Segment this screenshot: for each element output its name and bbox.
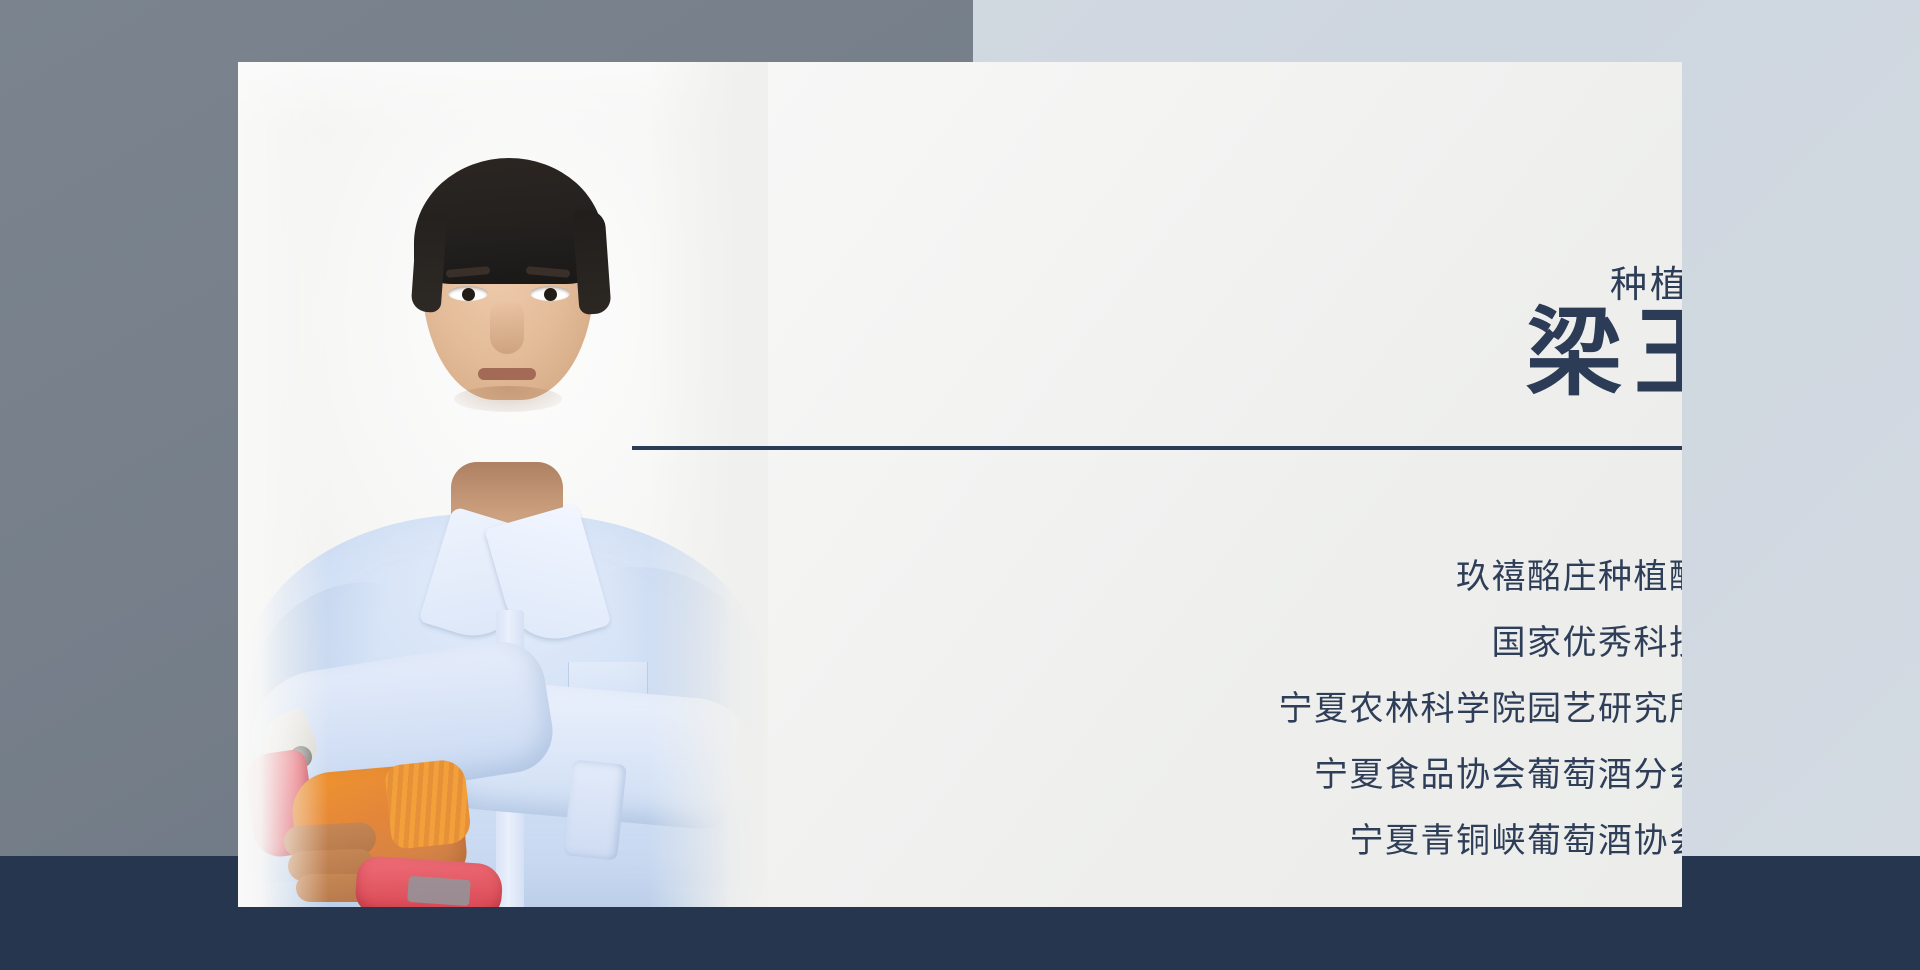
credential-item: 宁夏食品协会葡萄酒分会副会长 (798, 738, 1682, 804)
profile-card: 种植酿造专家 梁玉文 玖禧酩庄种植酿造专家 国家优秀科技特派员 宁夏农林科学院园… (238, 62, 1682, 907)
credential-label: 国家优秀科技特派员 (1492, 615, 1683, 664)
credentials-list: 玖禧酩庄种植酿造专家 国家优秀科技特派员 宁夏农林科学院园艺研究所研究员 宁夏食… (798, 540, 1682, 870)
credential-item: 国家优秀科技特派员 (798, 606, 1682, 672)
pruning-shears-label (407, 876, 471, 906)
person-name: 梁玉文 (1098, 304, 1682, 405)
portrait-photo-content (238, 62, 768, 907)
portrait-banner: 种植酿造专家 梁玉文 玖禧酩庄种植酿造专家 国家优秀科技特派员 宁夏农林科学院园… (0, 0, 1920, 970)
credential-item: 宁夏青铜峡葡萄酒协会副会长 (798, 804, 1682, 870)
pupil-left (462, 288, 475, 301)
portrait-photo (238, 62, 768, 907)
nose (490, 300, 524, 354)
shirt-cuff (563, 759, 627, 860)
credential-item: 宁夏农林科学院园艺研究所研究员 (798, 672, 1682, 738)
credential-label: 宁夏食品协会葡萄酒分会副会长 (1314, 747, 1682, 796)
work-glove-cuff (384, 758, 472, 850)
mouth (478, 368, 536, 380)
pupil-right (544, 288, 557, 301)
divider (632, 440, 1682, 456)
photo-fade-left (238, 62, 328, 907)
credential-item: 玖禧酩庄种植酿造专家 (798, 540, 1682, 606)
divider-line (632, 446, 1682, 450)
credential-label: 宁夏农林科学院园艺研究所研究员 (1279, 681, 1683, 730)
chin-shadow (454, 386, 562, 412)
photo-fade-right (648, 62, 768, 907)
credential-label: 宁夏青铜峡葡萄酒协会副会长 (1350, 813, 1683, 862)
credential-label: 玖禧酩庄种植酿造专家 (1456, 549, 1682, 598)
